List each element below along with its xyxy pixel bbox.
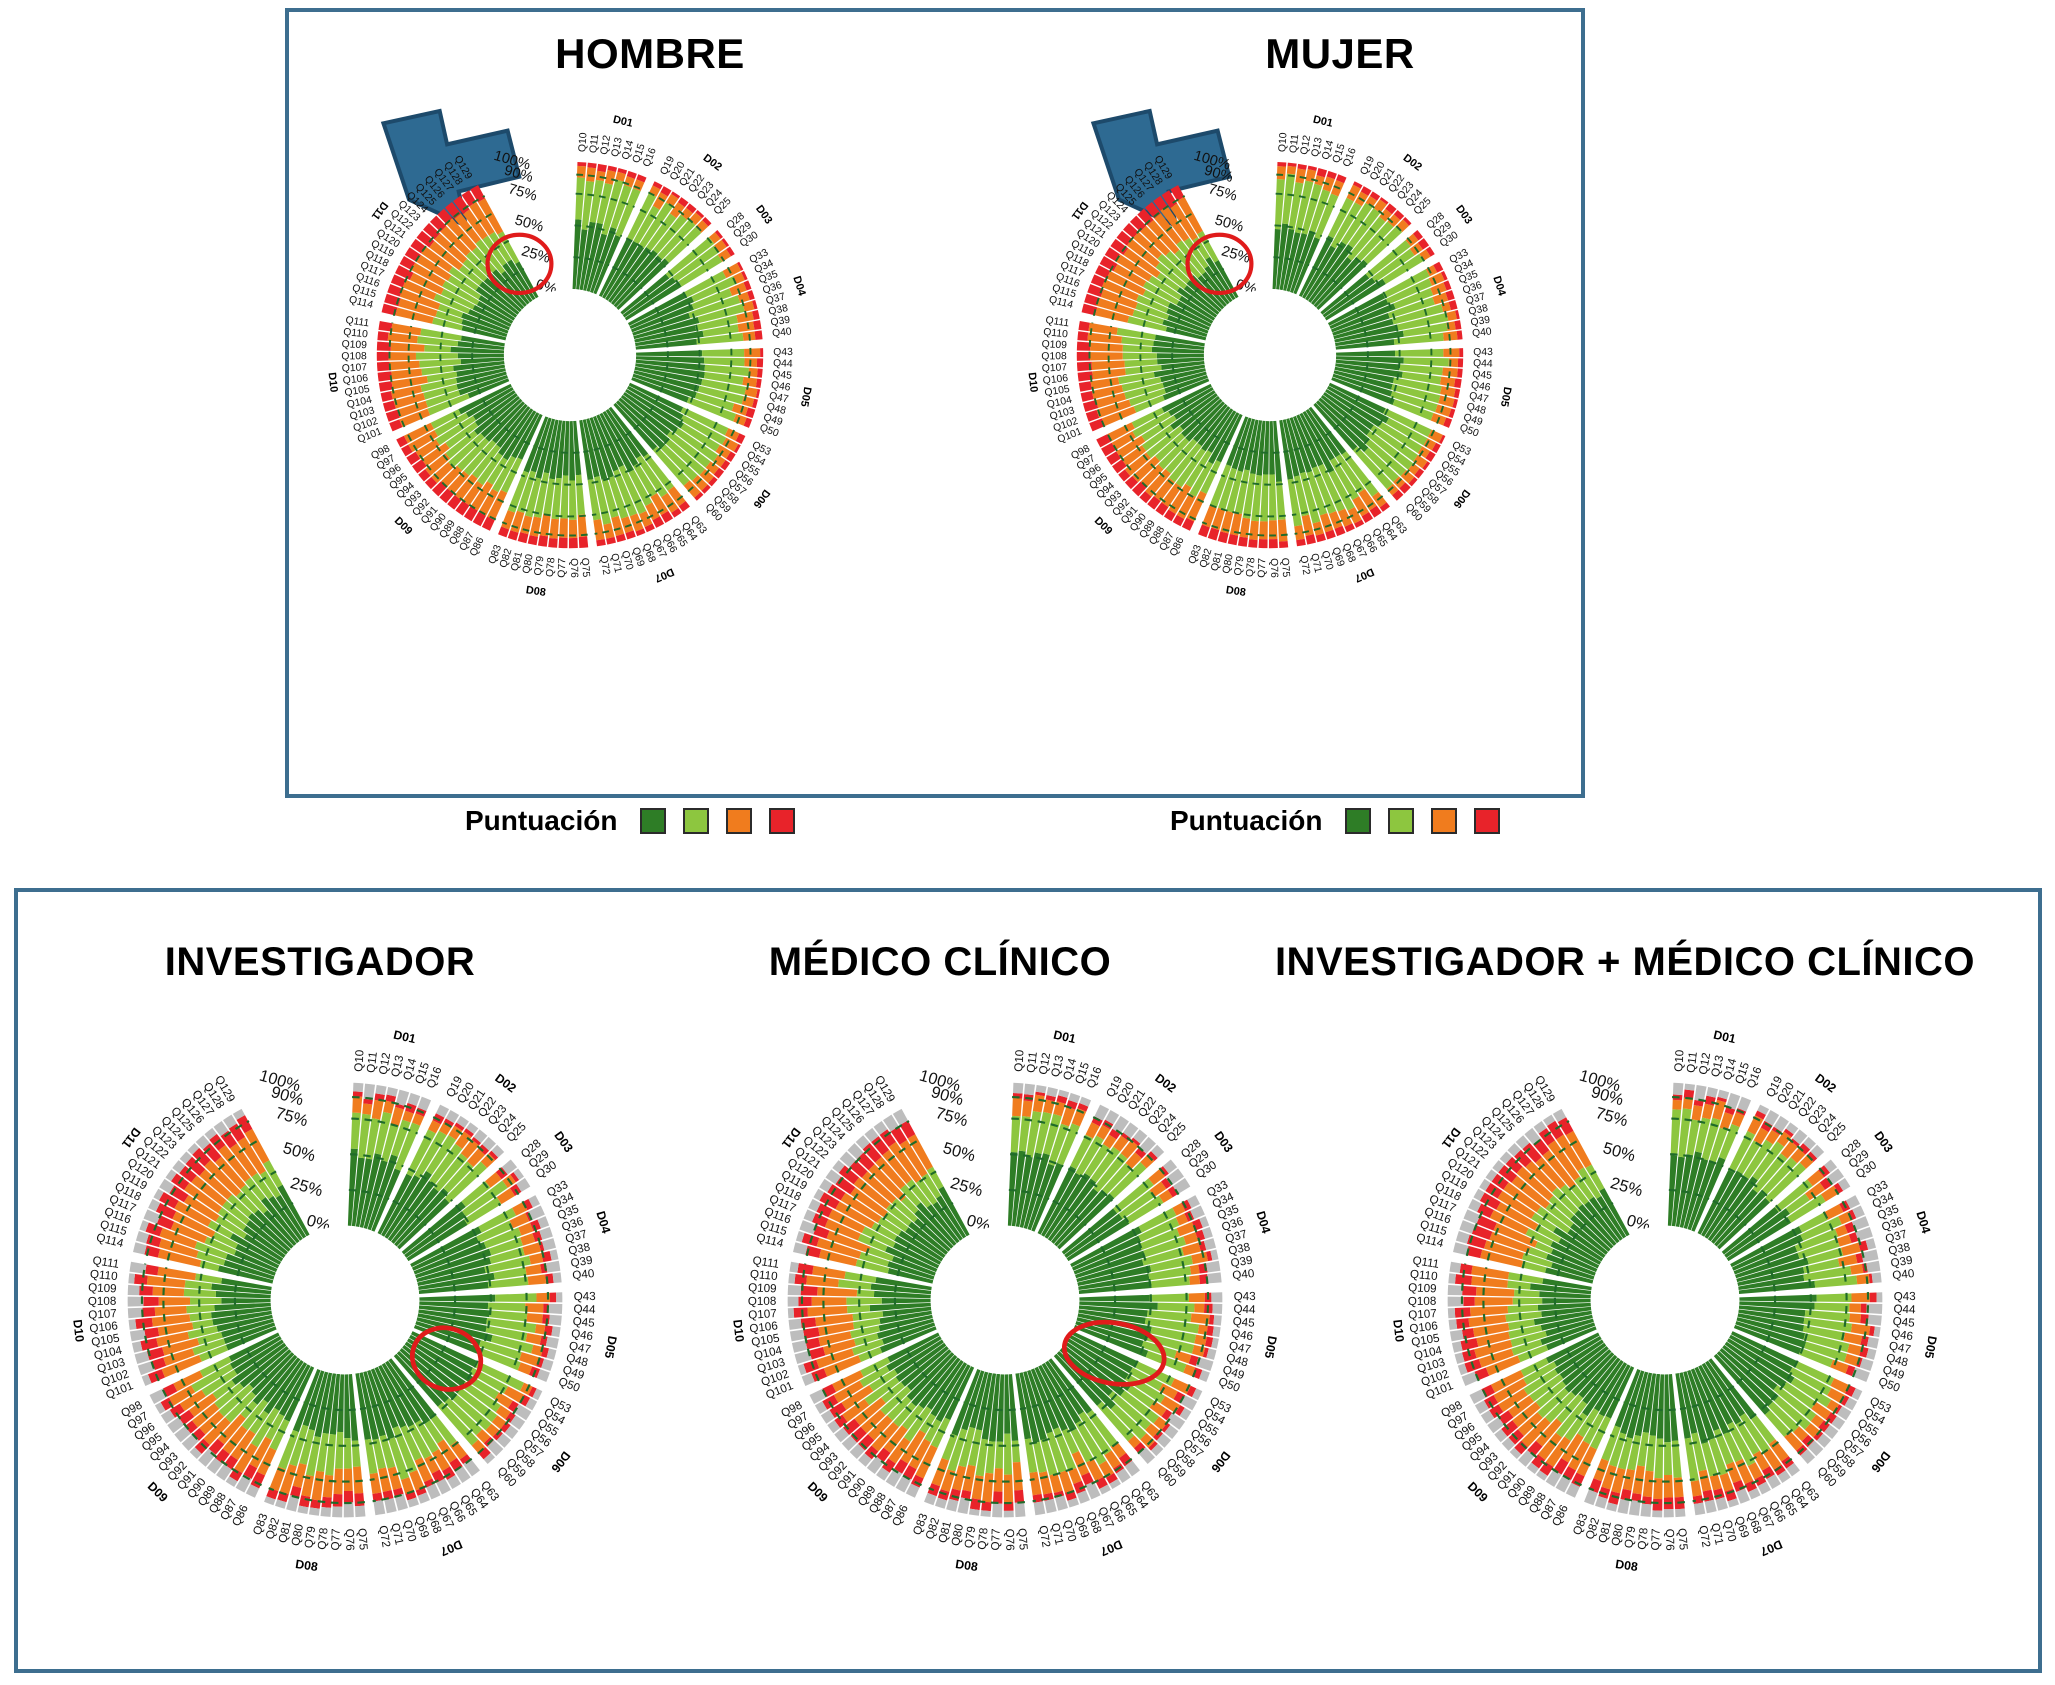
bar-segment bbox=[1702, 1104, 1714, 1120]
bar-segment bbox=[1847, 1344, 1861, 1356]
chart-title-investigador: INVESTIGADOR bbox=[60, 940, 580, 985]
bar-segment bbox=[757, 358, 763, 367]
chart-center-hole bbox=[931, 1226, 1080, 1375]
bar-segment bbox=[946, 1499, 958, 1512]
bar-segment bbox=[1867, 1337, 1879, 1349]
question-label: Q43 bbox=[1234, 1290, 1256, 1303]
bar-segment bbox=[846, 1298, 881, 1305]
bar-segment bbox=[130, 1329, 146, 1341]
domain-label: D10 bbox=[70, 1319, 87, 1343]
bar-segment bbox=[596, 171, 606, 181]
bar-segment bbox=[1457, 330, 1463, 339]
bar-segment bbox=[344, 1491, 353, 1503]
legend-swatch-light-green bbox=[1388, 808, 1414, 834]
bar-segment bbox=[597, 164, 607, 172]
question-label: Q108 bbox=[341, 351, 367, 362]
bar-segment bbox=[1011, 1116, 1021, 1153]
domain-label: D06 bbox=[1208, 1449, 1233, 1476]
bar-segment bbox=[1652, 1510, 1662, 1517]
circular-chart-mujer[interactable]: Q10Q11Q12Q13Q14Q15Q16Q19Q20Q21Q22Q23Q24Q… bbox=[990, 75, 1550, 635]
domain-label: D02 bbox=[492, 1071, 519, 1096]
bar-segment bbox=[416, 353, 458, 360]
circular-chart-hombre[interactable]: Q10Q11Q12Q13Q14Q15Q16Q19Q20Q21Q22Q23Q24Q… bbox=[290, 75, 850, 635]
bar-segment bbox=[525, 1303, 544, 1312]
domain-label: D07 bbox=[1353, 565, 1376, 584]
bar-segment bbox=[797, 1263, 813, 1275]
bar-segment bbox=[424, 345, 451, 352]
question-label: Q75 bbox=[1279, 557, 1291, 578]
domain-label: D04 bbox=[1490, 275, 1507, 298]
bar-segment bbox=[1872, 1272, 1882, 1283]
bar-segment bbox=[1014, 1490, 1024, 1503]
bar-segment bbox=[790, 1262, 799, 1273]
axis-tick-label: 75% bbox=[1593, 1104, 1629, 1130]
circular-chart-ambos[interactable]: Q10Q11Q12Q13Q14Q15Q16Q19Q20Q21Q22Q23Q24Q… bbox=[1350, 985, 1980, 1615]
polar-stacked-bars: Q10Q11Q12Q13Q14Q15Q16Q19Q20Q21Q22Q23Q24Q… bbox=[690, 985, 1320, 1615]
bar-segment bbox=[1238, 537, 1248, 547]
bar-segment bbox=[1448, 1273, 1456, 1284]
bar-segment bbox=[377, 362, 390, 371]
bar-segment bbox=[605, 170, 616, 185]
bar-segment bbox=[788, 1285, 801, 1295]
bar-segment bbox=[1448, 1308, 1455, 1318]
bar-segment bbox=[1077, 342, 1091, 351]
bar-segment bbox=[323, 1475, 334, 1498]
question-label: Q44 bbox=[1473, 358, 1493, 370]
bar-segment bbox=[1015, 1502, 1026, 1517]
question-label: Q78 bbox=[1636, 1527, 1651, 1550]
axis-tick-label: 90% bbox=[269, 1083, 305, 1109]
bar-segment bbox=[982, 1473, 993, 1503]
bar-segment bbox=[538, 535, 548, 547]
polar-stacked-bars: Q10Q11Q12Q13Q14Q15Q16Q19Q20Q21Q22Q23Q24Q… bbox=[1350, 985, 1980, 1615]
domain-label: D03 bbox=[1211, 1129, 1236, 1156]
question-label: Q77 bbox=[329, 1528, 343, 1550]
axis-tick-label: 50% bbox=[941, 1139, 977, 1165]
bar-segment bbox=[1448, 1285, 1463, 1295]
bar-segment bbox=[528, 535, 538, 545]
question-label: Q108 bbox=[748, 1295, 777, 1308]
bar-segment bbox=[755, 330, 763, 339]
bar-segment bbox=[788, 1308, 794, 1318]
bar-segment bbox=[1459, 348, 1463, 357]
bar-segment bbox=[1012, 1098, 1022, 1116]
bar-segment bbox=[1675, 1509, 1685, 1517]
bar-segment bbox=[1277, 166, 1286, 179]
bar-segment bbox=[603, 523, 614, 539]
domain-label: D02 bbox=[1401, 152, 1424, 174]
bar-segment bbox=[1460, 1338, 1478, 1351]
bar-segment bbox=[548, 538, 557, 548]
bar-segment bbox=[793, 1242, 808, 1255]
bar-segment bbox=[153, 1287, 185, 1297]
domain-label: D09 bbox=[805, 1479, 831, 1505]
bar-segment bbox=[139, 1286, 153, 1296]
domain-label: D08 bbox=[1614, 1557, 1638, 1574]
domain-label: D06 bbox=[1451, 487, 1473, 510]
bar-segment bbox=[309, 1507, 320, 1515]
bar-segment bbox=[221, 1298, 270, 1304]
bar-segment bbox=[550, 1293, 556, 1303]
axis-tick-label: 75% bbox=[1206, 181, 1238, 204]
bar-segment bbox=[1287, 166, 1296, 175]
domain-label: D03 bbox=[551, 1129, 576, 1156]
bar-segment bbox=[1213, 1315, 1221, 1326]
domain-label: D04 bbox=[1253, 1209, 1273, 1235]
legend-label: Puntuación bbox=[465, 805, 617, 837]
question-label: Q109 bbox=[1041, 339, 1067, 351]
circular-chart-medico[interactable]: Q10Q11Q12Q13Q14Q15Q16Q19Q20Q21Q22Q23Q24Q… bbox=[690, 985, 1320, 1615]
bar-segment bbox=[155, 1306, 187, 1316]
bar-segment bbox=[1158, 1303, 1195, 1312]
domain-label: D06 bbox=[751, 487, 773, 510]
polar-stacked-bars: Q10Q11Q12Q13Q14Q15Q16Q19Q20Q21Q22Q23Q24Q… bbox=[30, 985, 660, 1615]
bar-segment bbox=[560, 475, 568, 518]
bar-segment bbox=[375, 1085, 386, 1095]
bar-segment bbox=[419, 1295, 495, 1302]
legend-swatch-dark-green bbox=[1345, 808, 1371, 834]
chart-title-medico: MÉDICO CLÍNICO bbox=[690, 940, 1190, 985]
question-label: Q43 bbox=[773, 347, 793, 358]
bar-segment bbox=[1653, 1499, 1663, 1511]
bar-segment bbox=[704, 357, 745, 366]
bar-segment bbox=[798, 1297, 811, 1307]
domain-label: D04 bbox=[593, 1209, 613, 1235]
bar-segment bbox=[528, 1274, 546, 1285]
axis-tick-label: 90% bbox=[1589, 1083, 1625, 1109]
question-label: Q108 bbox=[1408, 1295, 1437, 1308]
bar-segment bbox=[1870, 1292, 1877, 1302]
bar-segment bbox=[1218, 531, 1229, 543]
legend-mujer: Puntuación bbox=[1170, 805, 1500, 837]
bar-segment bbox=[1269, 474, 1277, 520]
axis-tick-label: 25% bbox=[948, 1174, 984, 1200]
question-label: Q75 bbox=[1675, 1528, 1690, 1551]
bar-segment bbox=[529, 1253, 543, 1264]
axis-tick-label: 25% bbox=[1608, 1174, 1644, 1200]
bar-segment bbox=[140, 1338, 158, 1351]
question-label: Q109 bbox=[1408, 1281, 1437, 1295]
question-label: Q75 bbox=[355, 1528, 370, 1551]
question-label: Q107 bbox=[1041, 362, 1067, 375]
domain-label: D10 bbox=[1390, 1319, 1407, 1343]
bar-segment bbox=[882, 1298, 931, 1304]
chart-center-hole bbox=[504, 289, 636, 421]
bar-segment bbox=[1475, 1297, 1513, 1306]
bar-segment bbox=[146, 1234, 161, 1247]
bar-segment bbox=[1694, 1085, 1706, 1101]
question-label: Q77 bbox=[557, 558, 569, 578]
bar-segment bbox=[1013, 1083, 1023, 1094]
bar-segment bbox=[1078, 321, 1089, 331]
circular-chart-investigador[interactable]: Q10Q11Q12Q13Q14Q15Q16Q19Q20Q21Q22Q23Q24Q… bbox=[30, 985, 660, 1615]
bar-segment bbox=[389, 352, 416, 360]
bar-segment bbox=[1123, 345, 1152, 352]
bar-segment bbox=[1868, 1315, 1882, 1326]
question-label: Q108 bbox=[88, 1295, 117, 1308]
bar-segment bbox=[129, 1319, 137, 1330]
bar-segment bbox=[569, 480, 577, 519]
domain-label: D07 bbox=[438, 1537, 464, 1559]
domain-label: D02 bbox=[1812, 1071, 1839, 1096]
question-label: Q76 bbox=[1663, 1529, 1676, 1551]
question-label: Q43 bbox=[574, 1290, 596, 1303]
bar-segment bbox=[742, 377, 757, 387]
bar-segment bbox=[1843, 1333, 1862, 1345]
bar-segment bbox=[377, 352, 389, 361]
bar-segment bbox=[553, 1272, 562, 1283]
bar-segment bbox=[1279, 541, 1288, 548]
axis-tick-label: 75% bbox=[273, 1104, 309, 1130]
bar-segment bbox=[1513, 1298, 1542, 1305]
bar-segment bbox=[1476, 1287, 1514, 1297]
domain-label: D08 bbox=[294, 1557, 318, 1574]
bar-segment bbox=[1642, 1496, 1652, 1504]
bar-segment bbox=[1458, 358, 1463, 367]
question-label: Q76 bbox=[343, 1529, 356, 1551]
question-label: Q107 bbox=[341, 362, 367, 375]
domain-label: D07 bbox=[1098, 1537, 1124, 1559]
bar-segment bbox=[526, 1313, 542, 1323]
bar-segment bbox=[535, 1324, 545, 1334]
bar-segment bbox=[1269, 539, 1278, 548]
question-label: Q78 bbox=[545, 557, 558, 578]
domain-label: D09 bbox=[392, 515, 415, 538]
question-label: Q40 bbox=[1472, 326, 1493, 339]
bar-segment bbox=[980, 1510, 990, 1517]
domain-label: D07 bbox=[1758, 1537, 1784, 1559]
domain-label: D09 bbox=[1092, 515, 1115, 538]
bar-segment bbox=[1212, 1304, 1222, 1314]
bar-segment bbox=[794, 1274, 807, 1285]
bar-segment bbox=[354, 1493, 364, 1506]
question-label: Q72 bbox=[376, 1525, 392, 1549]
bar-segment bbox=[549, 1315, 562, 1326]
bar-segment bbox=[744, 348, 760, 357]
chart-center-hole bbox=[271, 1226, 420, 1375]
bar-segment bbox=[372, 1100, 384, 1120]
bar-segment bbox=[548, 1304, 562, 1314]
bar-segment bbox=[1004, 1475, 1013, 1503]
bar-segment bbox=[353, 1091, 363, 1096]
domain-label: D05 bbox=[798, 386, 813, 408]
domain-label: D06 bbox=[548, 1449, 573, 1476]
bar-segment bbox=[1462, 1286, 1476, 1296]
bar-segment bbox=[144, 1327, 159, 1338]
bar-segment bbox=[1033, 1095, 1045, 1113]
domain-label: D02 bbox=[701, 152, 724, 174]
axis-tick-label: 50% bbox=[1601, 1139, 1637, 1165]
bar-segment bbox=[379, 381, 393, 392]
bar-segment bbox=[1861, 1304, 1867, 1313]
question-label: Q78 bbox=[316, 1527, 331, 1550]
bar-segment bbox=[488, 1303, 525, 1312]
bar-segment bbox=[753, 320, 761, 330]
chart-center-hole bbox=[1591, 1226, 1740, 1375]
question-label: Q108 bbox=[1041, 351, 1067, 362]
bar-segment bbox=[377, 331, 388, 341]
bar-segment bbox=[1022, 1101, 1033, 1117]
question-label: Q77 bbox=[1257, 558, 1269, 578]
bar-segment bbox=[1470, 1306, 1508, 1316]
domain-label: D05 bbox=[1262, 1335, 1280, 1360]
axis-tick-label: 90% bbox=[929, 1083, 965, 1109]
domain-label: D01 bbox=[392, 1028, 417, 1047]
bar-segment bbox=[1692, 1105, 1703, 1121]
domain-label: D04 bbox=[1913, 1209, 1933, 1235]
figure-root: HOMBRE MUJER Q10Q11Q12Q13Q14Q15Q16Q19Q20… bbox=[0, 0, 2055, 1685]
bar-segment bbox=[1457, 369, 1463, 378]
bar-segment bbox=[1654, 1438, 1663, 1478]
bar-segment bbox=[1454, 378, 1462, 388]
question-label: Q72 bbox=[1036, 1525, 1052, 1549]
legend-label: Puntuación bbox=[1170, 805, 1322, 837]
bar-segment bbox=[384, 1498, 396, 1513]
bar-segment bbox=[1191, 1252, 1208, 1264]
question-label: Q40 bbox=[772, 326, 793, 339]
question-label: Q77 bbox=[989, 1528, 1003, 1550]
bar-segment bbox=[812, 1297, 847, 1306]
axis-tick-label: 50% bbox=[1213, 212, 1245, 235]
bar-segment bbox=[353, 1083, 363, 1092]
question-label: Q40 bbox=[572, 1267, 596, 1282]
bar-segment bbox=[789, 1319, 802, 1330]
legend-swatch-red bbox=[1474, 808, 1500, 834]
legend-swatch-orange bbox=[726, 808, 752, 834]
bar-segment bbox=[559, 538, 568, 549]
bar-segment bbox=[142, 1307, 155, 1317]
question-label: Q107 bbox=[748, 1307, 777, 1322]
question-label: Q109 bbox=[748, 1281, 777, 1295]
bar-segment bbox=[1149, 1293, 1189, 1301]
bar-segment bbox=[551, 1326, 560, 1337]
bar-segment bbox=[1336, 351, 1395, 357]
domain-label: D09 bbox=[1465, 1479, 1491, 1505]
bar-segment bbox=[1664, 1509, 1674, 1517]
bar-segment bbox=[737, 321, 754, 332]
bar-segment bbox=[344, 1502, 354, 1517]
bar-segment bbox=[128, 1285, 140, 1295]
bar-segment bbox=[556, 1292, 562, 1302]
bar-segment bbox=[1044, 1499, 1056, 1513]
bar-segment bbox=[128, 1273, 135, 1283]
bar-segment bbox=[320, 1507, 331, 1517]
bar-segment bbox=[1277, 162, 1286, 167]
bar-segment bbox=[1013, 1462, 1023, 1491]
bar-segment bbox=[1088, 323, 1117, 335]
bar-segment bbox=[495, 1293, 536, 1302]
domain-label: D06 bbox=[1868, 1449, 1893, 1476]
question-label: Q43 bbox=[1894, 1290, 1916, 1303]
bar-segment bbox=[569, 538, 578, 548]
question-label: Q72 bbox=[1696, 1525, 1712, 1549]
bar-segment bbox=[190, 1298, 221, 1305]
question-label: Q107 bbox=[1408, 1307, 1437, 1322]
bar-segment bbox=[1077, 331, 1088, 341]
bar-segment bbox=[135, 1351, 150, 1364]
bar-segment bbox=[1672, 1100, 1682, 1110]
bar-segment bbox=[344, 1468, 353, 1491]
bar-segment bbox=[981, 1501, 991, 1511]
bar-segment bbox=[1211, 1292, 1222, 1302]
bar-segment bbox=[1090, 343, 1123, 352]
bar-segment bbox=[577, 166, 586, 178]
bar-segment bbox=[1189, 1293, 1205, 1302]
question-label: Q77 bbox=[1649, 1528, 1663, 1550]
bar-segment bbox=[1034, 1501, 1046, 1515]
bar-segment bbox=[1206, 1261, 1220, 1273]
bar-segment bbox=[1814, 1303, 1849, 1312]
domain-label: D01 bbox=[1052, 1028, 1077, 1047]
bar-segment bbox=[381, 391, 393, 402]
bar-segment bbox=[702, 349, 744, 357]
bar-segment bbox=[1449, 1319, 1458, 1330]
question-label: Q78 bbox=[1245, 557, 1258, 578]
bar-segment bbox=[1024, 1084, 1035, 1096]
bar-segment bbox=[133, 1242, 147, 1254]
bar-segment bbox=[636, 350, 702, 356]
bar-segment bbox=[1849, 1313, 1861, 1323]
chart-title-mujer: MUJER bbox=[1190, 30, 1490, 78]
bar-segment bbox=[1664, 1442, 1672, 1475]
bar-segment bbox=[576, 475, 585, 515]
bar-segment bbox=[1276, 482, 1285, 520]
bar-segment bbox=[1090, 352, 1123, 360]
bar-segment bbox=[1157, 353, 1204, 358]
question-label: Q76 bbox=[568, 558, 579, 578]
bar-segment bbox=[1447, 311, 1457, 321]
bar-segment bbox=[1691, 1480, 1702, 1496]
bar-segment bbox=[1694, 1502, 1705, 1515]
bar-segment bbox=[1640, 1504, 1651, 1517]
legend-swatch-light-green bbox=[683, 808, 709, 834]
chart-title-ambos: INVESTIGADOR + MÉDICO CLÍNICO bbox=[1230, 940, 2020, 985]
axis-tick-label: 75% bbox=[933, 1104, 969, 1130]
question-label: Q107 bbox=[88, 1307, 117, 1322]
bar-segment bbox=[373, 1500, 385, 1515]
axis-tick-label: 50% bbox=[281, 1139, 317, 1165]
bar-segment bbox=[1850, 1264, 1863, 1275]
bar-segment bbox=[1617, 1499, 1629, 1514]
bar-segment bbox=[1508, 1305, 1539, 1313]
bar-segment bbox=[1849, 1303, 1861, 1312]
question-label: Q72 bbox=[1297, 555, 1311, 576]
bar-segment bbox=[1249, 521, 1259, 540]
domain-label: D03 bbox=[1453, 203, 1474, 226]
question-label: Q109 bbox=[341, 339, 367, 351]
legend-swatch-red bbox=[769, 808, 795, 834]
bar-segment bbox=[577, 162, 586, 166]
bar-segment bbox=[335, 1432, 343, 1469]
domain-label: D08 bbox=[1225, 584, 1247, 599]
bar-segment bbox=[992, 1503, 1002, 1517]
bar-segment bbox=[352, 1096, 362, 1113]
domain-label: D05 bbox=[1922, 1335, 1940, 1360]
bar-segment bbox=[1463, 1297, 1474, 1306]
bar-segment bbox=[1629, 1500, 1641, 1516]
question-label: Q109 bbox=[88, 1281, 117, 1295]
bar-segment bbox=[299, 1495, 310, 1507]
bar-segment bbox=[1876, 1292, 1882, 1302]
bar-segment bbox=[1055, 1495, 1068, 1510]
bar-segment bbox=[1278, 519, 1288, 541]
bar-segment bbox=[794, 1308, 808, 1318]
bar-segment bbox=[1542, 1298, 1591, 1304]
domain-label: D02 bbox=[1152, 1071, 1179, 1096]
bar-segment bbox=[790, 1330, 805, 1342]
domain-label: D03 bbox=[1871, 1129, 1896, 1156]
domain-label: D01 bbox=[612, 114, 634, 130]
